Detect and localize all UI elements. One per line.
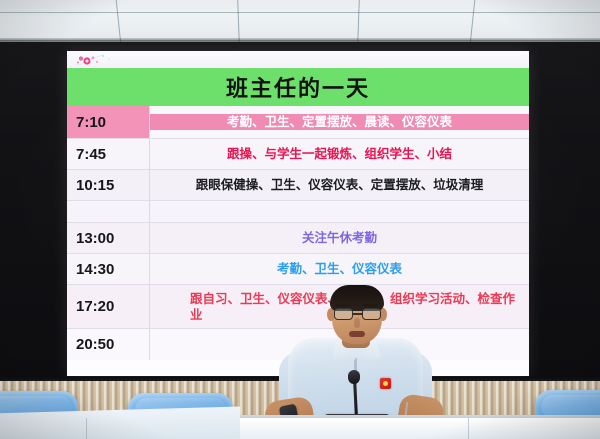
row-task: 考勤、卫生、定置摆放、晨读、仪容仪表	[150, 114, 529, 130]
row-time: 10:15	[67, 170, 150, 200]
slide-title: 班主任的一天	[226, 71, 370, 103]
mouth	[349, 331, 365, 337]
eyebrow-right	[363, 304, 378, 307]
conference-room-scene: 班主任的一天 7:10 考勤、卫生、定置摆放、晨读、仪容仪表 7:45 跟操、与…	[0, 0, 600, 439]
table-row-spacer	[67, 201, 529, 223]
row-time: 17:20	[67, 285, 150, 328]
table-row: 14:30 考勤、卫生、仪容仪表	[67, 254, 529, 285]
row-task: 考勤、卫生、仪容仪表	[150, 261, 529, 277]
row-task: 跟眼保健操、卫生、仪容仪表、定置摆放、垃圾清理	[150, 177, 529, 193]
row-task: 跟操、与学生一起锻炼、组织学生、小结	[150, 146, 529, 162]
party-badge	[380, 378, 391, 389]
table-row: 7:45 跟操、与学生一起锻炼、组织学生、小结	[67, 139, 529, 170]
row-task: 关注午休考勤	[150, 230, 529, 246]
floral-decoration-icon	[73, 53, 119, 67]
row-time: 14:30	[67, 254, 150, 284]
table-row: 10:15 跟眼保健操、卫生、仪容仪表、定置摆放、垃圾清理	[67, 170, 529, 201]
row-time	[67, 201, 150, 222]
row-time: 7:10	[67, 106, 150, 138]
row-time: 13:00	[67, 223, 150, 253]
slide-title-band: 班主任的一天	[67, 68, 529, 106]
table-left-section	[0, 407, 240, 439]
row-time: 7:45	[67, 139, 150, 169]
table-row: 7:10 考勤、卫生、定置摆放、晨读、仪容仪表	[67, 106, 529, 139]
nose	[354, 318, 360, 328]
slide-header-strip	[67, 51, 529, 68]
eyebrow-left	[336, 304, 351, 307]
table-row: 13:00 关注午休考勤	[67, 223, 529, 254]
microphone-head	[348, 370, 360, 384]
row-time: 20:50	[67, 329, 150, 360]
